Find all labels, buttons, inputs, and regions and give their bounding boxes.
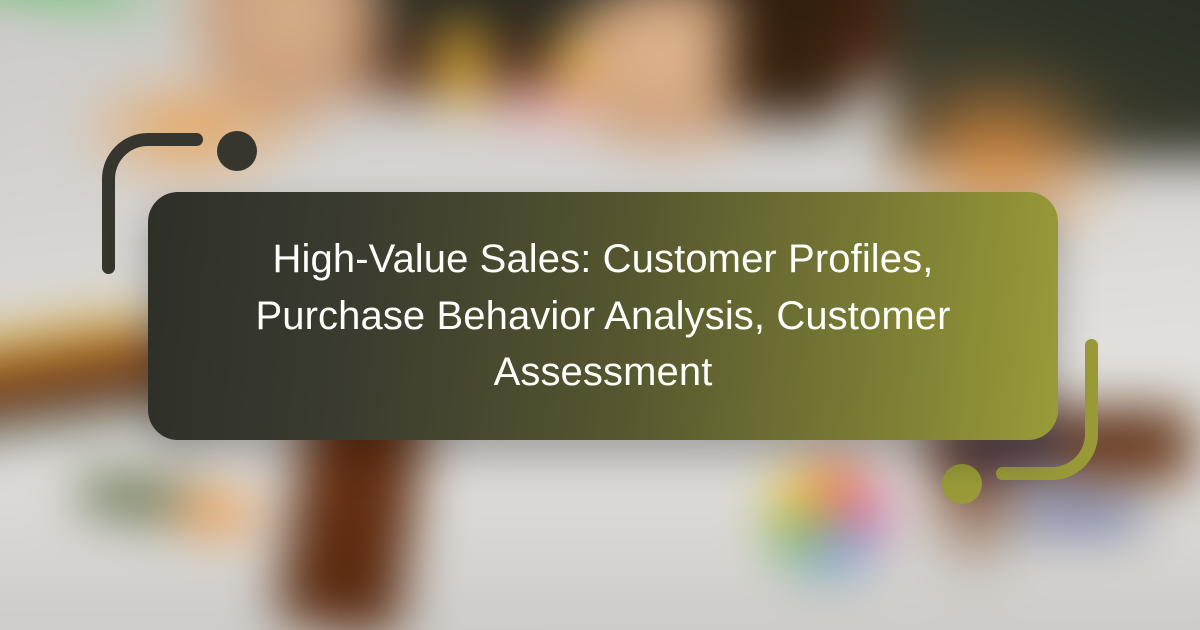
frame-line-3 — [26, 490, 146, 630]
accent-dot-top-left — [217, 131, 257, 171]
banner-canvas: High-Value Sales: Customer Profiles, Pur… — [0, 0, 1200, 630]
accent-dot-bottom-right — [942, 464, 982, 504]
bg-pink-note — [500, 85, 590, 123]
bg-sticky-note-a — [445, 25, 479, 105]
bg-bottle — [730, 0, 850, 120]
frame-line-3 — [1075, 28, 1200, 166]
bg-pie-chart — [768, 460, 888, 576]
banner-title: High-Value Sales: Customer Profiles, Pur… — [203, 231, 1003, 401]
title-card: High-Value Sales: Customer Profiles, Pur… — [148, 192, 1058, 440]
corner-frame-top-right — [1010, 0, 1200, 180]
corner-frame-bottom-left — [0, 440, 190, 630]
bg-blue-strip-b — [1020, 500, 1140, 530]
